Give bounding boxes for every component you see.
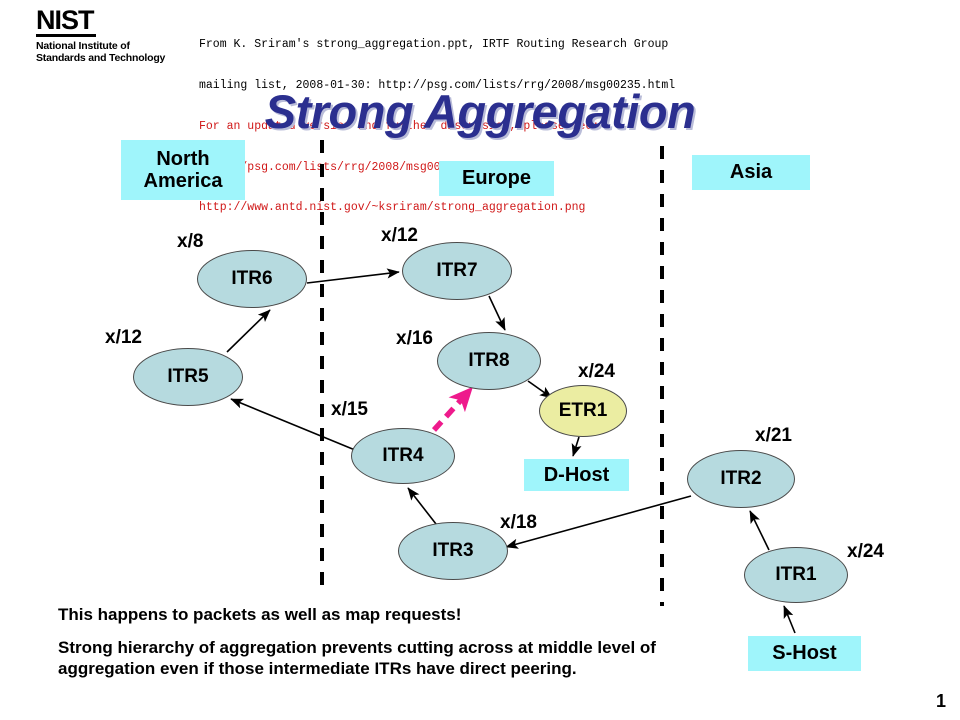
nist-wordmark: NIST	[36, 6, 96, 37]
node-label: ITR5	[167, 366, 208, 388]
node-label: ITR4	[382, 445, 423, 467]
prefix-label-itr4: x/15	[331, 399, 368, 421]
region-north-america: North America	[121, 140, 245, 200]
footer-note-hierarchy-line2: aggregation even if those intermediate I…	[58, 658, 758, 679]
edge-itr6-itr7	[307, 272, 399, 283]
page-title: Strong Aggregation	[0, 84, 960, 139]
node-itr5[interactable]: ITR5	[133, 348, 243, 406]
attribution-line-4[interactable]: http://psg.com/lists/rrg/2008/msg00246.h…	[199, 161, 675, 175]
region-label-text: Asia	[730, 161, 772, 183]
nist-tagline: National Institute of Standards and Tech…	[36, 40, 186, 64]
node-label: ITR1	[775, 564, 816, 586]
footer-note-hierarchy: Strong hierarchy of aggregation prevents…	[58, 637, 758, 679]
edge-itr7-itr8	[489, 296, 505, 330]
edge-itr5-itr6	[227, 310, 270, 352]
page-number: 1	[936, 691, 946, 712]
region-label-text: North America	[144, 148, 223, 193]
attribution-line-1: From K. Sriram's strong_aggregation.ppt,…	[199, 38, 675, 52]
region-europe: Europe	[439, 161, 554, 196]
edge-itr3-itr4	[408, 488, 436, 524]
region-label-text: Europe	[462, 167, 531, 189]
footer-note-packets: This happens to packets as well as map r…	[58, 604, 461, 625]
node-label: ITR3	[432, 540, 473, 562]
node-itr4[interactable]: ITR4	[351, 428, 455, 484]
host-label-text: D-Host	[544, 464, 610, 486]
edge-itr1-itr2	[750, 511, 769, 550]
node-itr8[interactable]: ITR8	[437, 332, 541, 390]
prefix-label-itr2: x/21	[755, 425, 792, 447]
node-etr1[interactable]: ETR1	[539, 385, 627, 437]
edge-itr4-itr8-blocked	[434, 390, 470, 430]
prefix-label-itr7: x/12	[381, 225, 418, 247]
prefix-label-itr5: x/12	[105, 327, 142, 349]
d-host-box: D-Host	[524, 459, 629, 491]
prefix-label-itr8: x/16	[396, 328, 433, 350]
node-label: ITR8	[468, 350, 509, 372]
slide-canvas: NIST National Institute of Standards and…	[0, 0, 960, 720]
node-itr2[interactable]: ITR2	[687, 450, 795, 508]
nist-logo: NIST National Institute of Standards and…	[36, 6, 186, 64]
node-label: ITR2	[720, 468, 761, 490]
prefix-label-itr6: x/8	[177, 231, 203, 253]
region-asia: Asia	[692, 155, 810, 190]
prefix-label-etr1: x/24	[578, 361, 615, 383]
node-itr6[interactable]: ITR6	[197, 250, 307, 308]
edge-shost-itr1	[784, 606, 795, 633]
footer-note-hierarchy-line1: Strong hierarchy of aggregation prevents…	[58, 637, 758, 658]
node-itr1[interactable]: ITR1	[744, 547, 848, 603]
s-host-box: S-Host	[748, 636, 861, 671]
attribution-line-5[interactable]: http://www.antd.nist.gov/~ksriram/strong…	[199, 201, 675, 215]
node-label: ITR7	[436, 260, 477, 282]
node-label: ITR6	[231, 268, 272, 290]
nist-tagline-line2: Standards and Technology	[36, 52, 186, 64]
node-itr3[interactable]: ITR3	[398, 522, 508, 580]
prefix-label-itr3: x/18	[500, 512, 537, 534]
host-label-text: S-Host	[772, 642, 836, 664]
node-itr7[interactable]: ITR7	[402, 242, 512, 300]
node-label: ETR1	[559, 400, 608, 422]
prefix-label-itr1: x/24	[847, 541, 884, 563]
network-edge-group	[227, 272, 795, 633]
nist-tagline-line1: National Institute of	[36, 40, 186, 52]
edge-etr1-dhost	[573, 437, 579, 456]
